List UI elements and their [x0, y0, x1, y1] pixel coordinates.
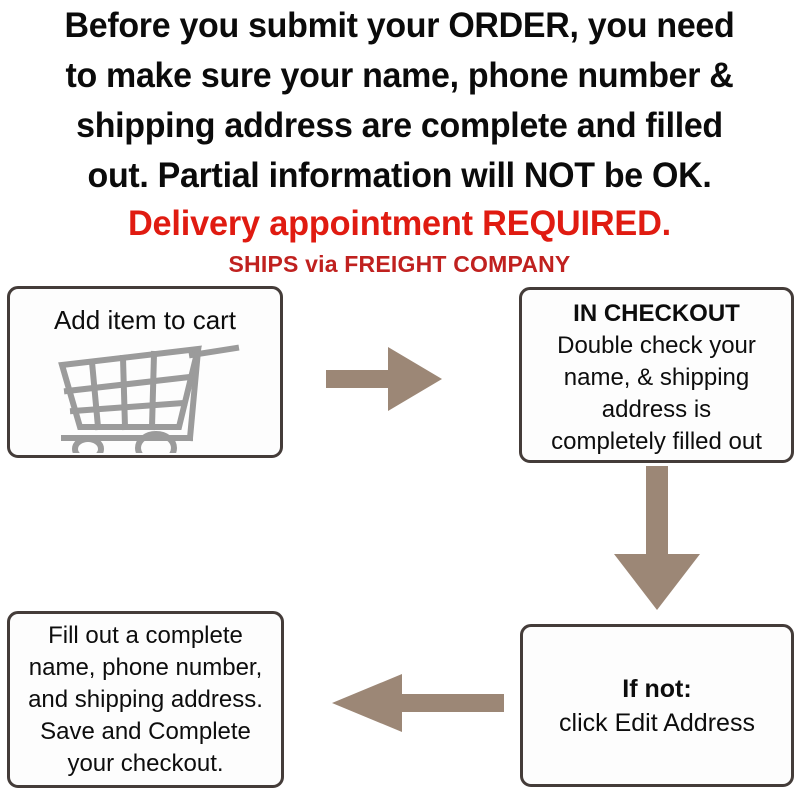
arrow-down-checkout-to-if-not [612, 466, 704, 612]
arrow-left-if-not-to-fill-out [330, 672, 504, 734]
box-fill-out-line-5: your checkout. [67, 748, 223, 780]
box-if-not-line-2: click Edit Address [559, 706, 755, 740]
flow-box-fill-out-address[interactable]: Fill out a complete name, phone number, … [7, 611, 284, 788]
box-in-checkout-line-5: completely filled out [551, 426, 762, 458]
ships-freight-notice: SHIPS via FREIGHT COMPANY [0, 249, 799, 279]
box-fill-out-line-4: Save and Complete [40, 716, 251, 748]
box-in-checkout-title: IN CHECKOUT [573, 298, 740, 330]
instruction-line-1: Before you submit your ORDER, you need [12, 0, 787, 50]
flow-box-in-checkout[interactable]: IN CHECKOUT Double check your name, & sh… [519, 287, 794, 463]
shopping-cart-icon [40, 343, 250, 453]
arrow-right-add-cart-to-checkout [326, 344, 444, 414]
instruction-line-3: shipping address are complete and filled [12, 100, 787, 150]
box-in-checkout-line-2: Double check your [557, 330, 756, 362]
box-fill-out-line-2: name, phone number, [29, 652, 263, 684]
flow-box-if-not-edit-address[interactable]: If not: click Edit Address [520, 624, 794, 787]
instruction-line-2: to make sure your name, phone number & [12, 50, 787, 100]
box-in-checkout-line-3: name, & shipping [564, 362, 749, 394]
box-if-not-title: If not: [622, 672, 691, 706]
infographic-canvas: Before you submit your ORDER, you need t… [0, 0, 799, 800]
delivery-appointment-notice: Delivery appointment REQUIRED. [8, 202, 791, 246]
box-add-cart-label: Add item to cart [54, 303, 236, 337]
box-fill-out-line-3: and shipping address. [28, 684, 263, 716]
header-block: Before you submit your ORDER, you need t… [0, 0, 799, 279]
instruction-line-4: out. Partial information will NOT be OK. [12, 150, 787, 200]
box-fill-out-line-1: Fill out a complete [48, 620, 243, 652]
flow-box-add-item-to-cart[interactable]: Add item to cart [7, 286, 283, 458]
box-in-checkout-line-4: address is [602, 394, 711, 426]
